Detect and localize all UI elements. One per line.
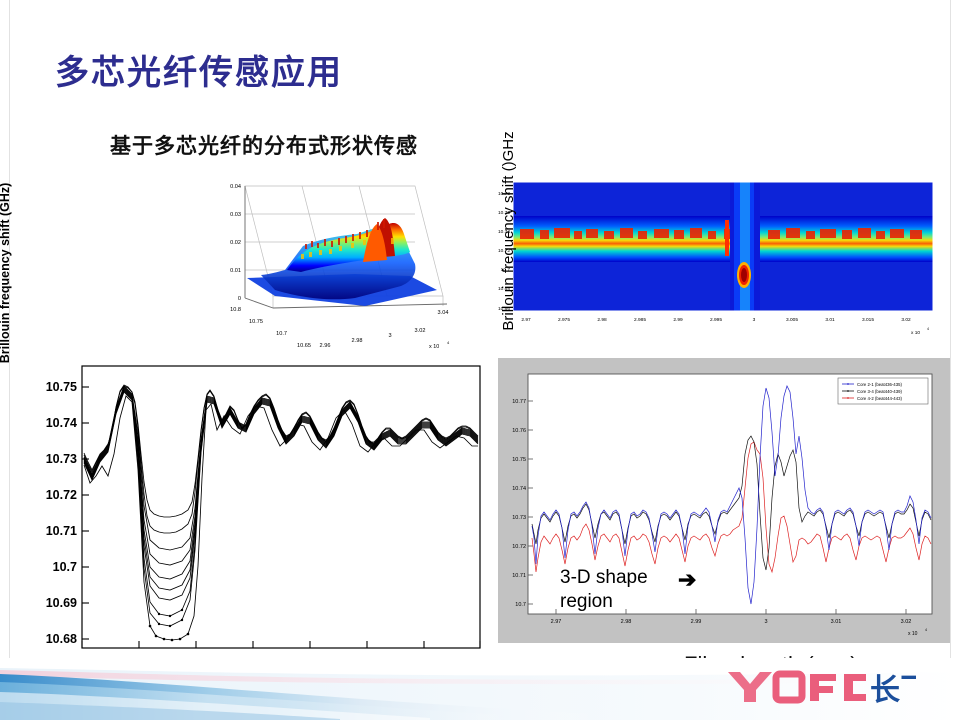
cores-legend: Core 2-1 (beat436-435) Core 3-4 (beat440… xyxy=(838,378,928,404)
curves-y-ticklabels: 10.68 10.69 10.7 10.71 10.72 10.73 10.74… xyxy=(46,380,77,646)
page-title: 多芯光纤传感应用 xyxy=(55,45,343,94)
svg-text:3.01: 3.01 xyxy=(825,317,835,323)
cores-y-axis-label: Brillouin frequency shift ()GHz xyxy=(500,102,517,360)
svg-text:10.69: 10.69 xyxy=(46,596,77,610)
svg-text:3.02: 3.02 xyxy=(415,328,426,334)
svg-text:2.97: 2.97 xyxy=(521,317,531,323)
svg-text:0: 0 xyxy=(238,296,241,302)
svg-text:2.985: 2.985 xyxy=(634,317,646,323)
surface-mesh xyxy=(247,218,437,306)
surface-x-exponent: x 10 4 xyxy=(429,340,450,350)
cores-annotation-line1: 3-D shape xyxy=(560,567,648,588)
heatmap-x-exponent: x 10 4 xyxy=(911,327,929,336)
svg-text:10.7: 10.7 xyxy=(53,560,77,574)
svg-text:3.02: 3.02 xyxy=(901,317,911,323)
svg-text:0.03: 0.03 xyxy=(230,212,241,218)
svg-text:3: 3 xyxy=(764,619,767,625)
surface-y-axis xyxy=(245,298,273,308)
svg-text:x 10: x 10 xyxy=(911,330,920,336)
svg-text:0.02: 0.02 xyxy=(230,240,241,246)
heatmap-data xyxy=(513,182,933,311)
logo-mark-yofc xyxy=(728,672,866,702)
svg-text:2.99: 2.99 xyxy=(673,317,683,323)
svg-text:2.96: 2.96 xyxy=(320,343,331,349)
logo-wordmark-cn: 长飞 xyxy=(870,673,916,708)
svg-text:10.75: 10.75 xyxy=(249,319,263,325)
svg-text:x 10: x 10 xyxy=(908,631,918,637)
svg-text:10.74: 10.74 xyxy=(512,486,526,492)
cores-legend-label-0: Core 2-1 (beat436-435) xyxy=(857,382,902,387)
figure-heatmap: 10.78 10.76 10.74 10.72 10.7 10.68 10.66… xyxy=(468,176,948,346)
svg-text:10.75: 10.75 xyxy=(512,457,526,463)
svg-text:10.7: 10.7 xyxy=(276,331,287,337)
cores-annotation: 3-D shape region xyxy=(560,566,648,614)
svg-text:4: 4 xyxy=(925,628,927,632)
svg-text:3: 3 xyxy=(753,317,756,323)
svg-text:2.98: 2.98 xyxy=(597,317,607,323)
slide-frame-right xyxy=(950,0,951,665)
svg-text:10.73: 10.73 xyxy=(512,515,526,521)
svg-text:4: 4 xyxy=(927,327,929,331)
svg-text:2.97: 2.97 xyxy=(551,619,562,625)
svg-text:10.72: 10.72 xyxy=(46,488,77,502)
brand-logo-svg: 长飞 xyxy=(726,668,916,708)
svg-text:3.005: 3.005 xyxy=(786,317,798,323)
svg-text:0.04: 0.04 xyxy=(230,184,241,190)
page-subtitle: 基于多芯光纤的分布式形状传感 xyxy=(110,130,418,160)
svg-text:10.72: 10.72 xyxy=(512,544,526,550)
svg-text:2.98: 2.98 xyxy=(352,338,363,344)
svg-text:10.76: 10.76 xyxy=(512,428,526,434)
surface-svg: 0.04 0.03 0.02 0.01 0 10.8 10.75 10.7 10… xyxy=(205,178,455,353)
svg-text:2.99: 2.99 xyxy=(691,619,702,625)
svg-text:10.75: 10.75 xyxy=(46,380,77,394)
svg-text:10.71: 10.71 xyxy=(46,524,77,538)
svg-text:3.01: 3.01 xyxy=(831,619,842,625)
svg-text:10.8: 10.8 xyxy=(230,307,241,313)
figure-strain-curves: 10.68 10.69 10.7 10.71 10.72 10.73 10.74… xyxy=(14,358,489,678)
svg-text:10.74: 10.74 xyxy=(46,416,77,430)
svg-text:2.995: 2.995 xyxy=(710,317,722,323)
surface-z-ticks: 0.04 0.03 0.02 0.01 0 xyxy=(230,184,241,302)
cores-legend-label-1: Core 3-4 (beat440-439) xyxy=(857,389,902,394)
svg-text:10.71: 10.71 xyxy=(512,573,526,579)
svg-text:10.77: 10.77 xyxy=(512,399,526,405)
svg-text:x 10: x 10 xyxy=(429,344,439,350)
svg-text:3: 3 xyxy=(388,333,391,339)
svg-text:3.02: 3.02 xyxy=(901,619,912,625)
svg-text:10.68: 10.68 xyxy=(46,632,77,646)
surface-y-ticks: 10.8 10.75 10.7 10.65 xyxy=(230,307,311,349)
svg-text:10.65: 10.65 xyxy=(297,343,311,349)
cores-legend-label-2: Core 4-2 (beat444-443) xyxy=(857,396,902,401)
svg-text:10.7: 10.7 xyxy=(515,602,526,608)
curves-y-axis-label: Brillouin frequency shift (GHz) xyxy=(0,148,12,398)
slide-canvas: 多芯光纤传感应用 基于多芯光纤的分布式形状传感 xyxy=(0,0,960,720)
svg-text:3.04: 3.04 xyxy=(438,310,449,316)
brand-logo: 长飞 xyxy=(726,668,916,708)
logo-cn-text: 长飞 xyxy=(870,673,916,708)
heatmap-svg: 10.78 10.76 10.74 10.72 10.7 10.68 10.66… xyxy=(468,176,948,346)
heatmap-x-ticks: 2.97 2.975 2.98 2.985 2.99 2.995 3 3.005… xyxy=(521,317,911,323)
cores-annotation-line2: region xyxy=(560,591,613,612)
curves-svg: 10.68 10.69 10.7 10.71 10.72 10.73 10.74… xyxy=(14,358,489,678)
svg-text:4: 4 xyxy=(447,340,450,345)
svg-text:10.73: 10.73 xyxy=(46,452,77,466)
svg-text:2.975: 2.975 xyxy=(558,317,570,323)
cores-annotation-arrow: ➔ xyxy=(678,569,696,591)
svg-text:2.98: 2.98 xyxy=(621,619,632,625)
figure-3d-surface: 0.04 0.03 0.02 0.01 0 10.8 10.75 10.7 10… xyxy=(205,178,455,353)
svg-text:3.015: 3.015 xyxy=(862,317,874,323)
svg-text:0.01: 0.01 xyxy=(230,268,241,274)
